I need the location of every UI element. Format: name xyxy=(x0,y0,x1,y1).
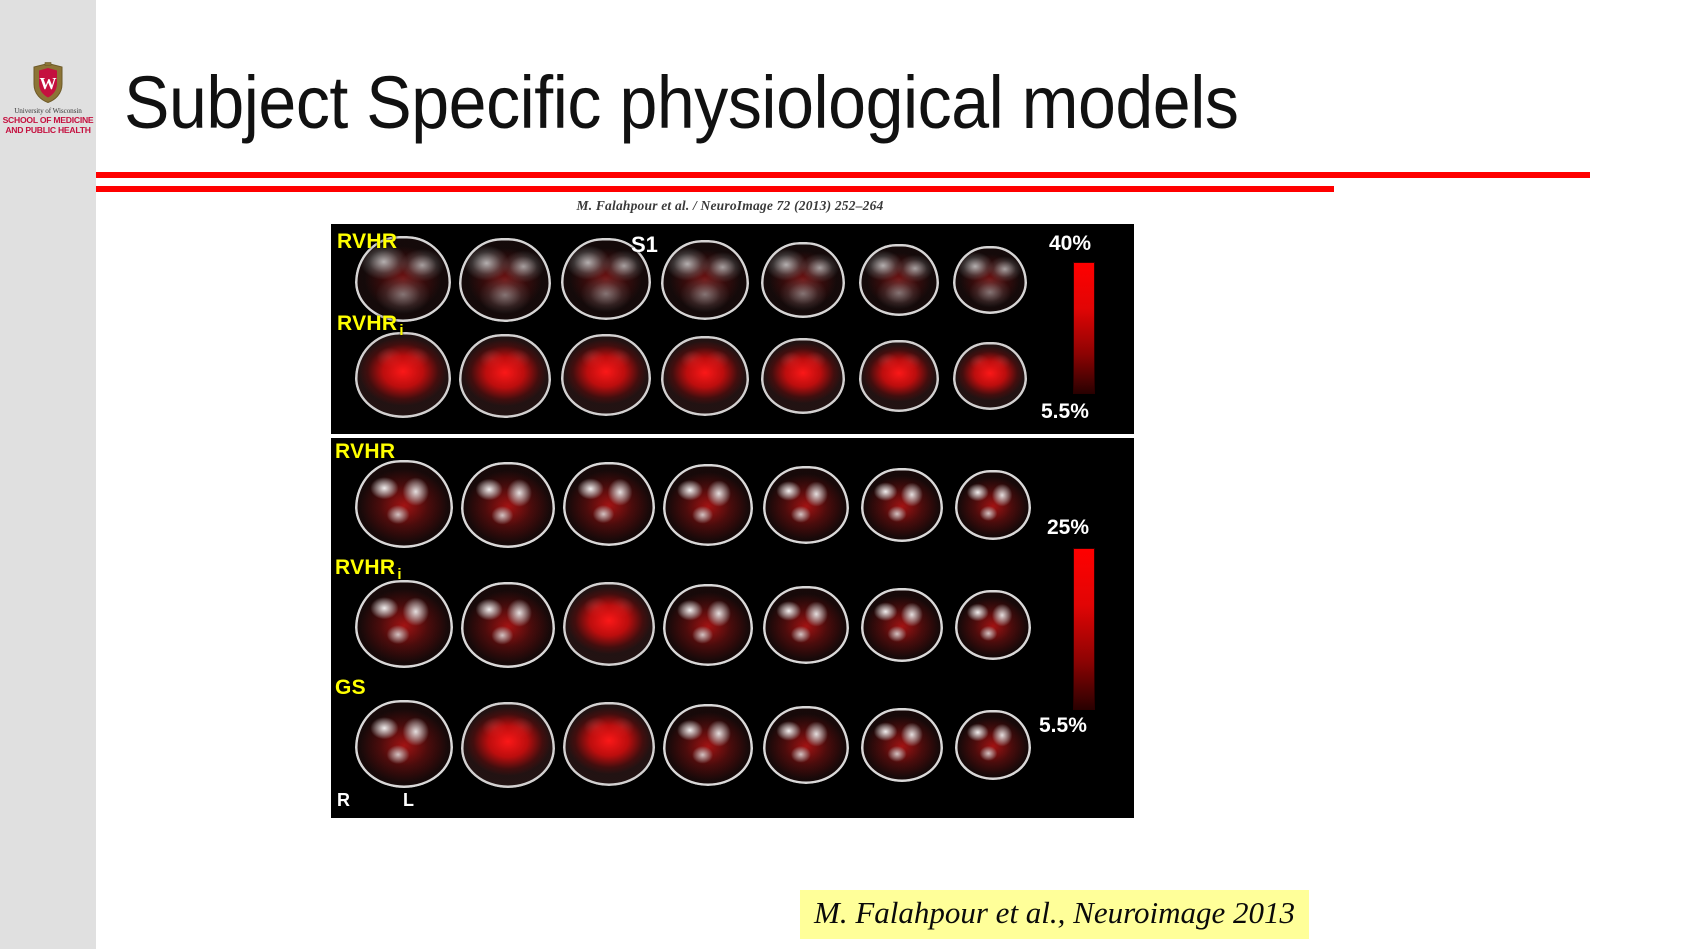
brain-slice xyxy=(661,336,749,416)
colorbar-top-min-label: 5.5% xyxy=(1041,400,1089,424)
logo-school-line2: AND PUBLIC HEALTH xyxy=(2,125,94,135)
brain-slice xyxy=(955,590,1031,660)
citation-highlight: M. Falahpour et al., Neuroimage 2013 xyxy=(800,890,1309,939)
logo-school-line1: SCHOOL OF MEDICINE xyxy=(2,115,94,125)
brain-slice xyxy=(861,588,943,662)
row-label-text: RVHR xyxy=(337,312,397,335)
row-label-gs: GS xyxy=(335,676,366,700)
row-label-rvhr-bottom: RVHR xyxy=(335,440,395,464)
subject-label: S1 xyxy=(631,232,658,258)
uw-crest-icon: W xyxy=(31,62,65,104)
brain-slice xyxy=(563,582,655,666)
colorbar-bottom-min-label: 5.5% xyxy=(1039,714,1087,738)
brain-slice xyxy=(663,584,753,666)
brain-slice xyxy=(355,460,453,548)
orientation-label-right: R xyxy=(337,790,350,811)
svg-text:W: W xyxy=(40,74,57,93)
row-label-text: GS xyxy=(335,676,366,699)
row-label-text: RVHR xyxy=(337,230,397,253)
row-label-rvhr-top: RVHR xyxy=(337,230,397,254)
title-divider-bottom xyxy=(96,186,1334,192)
row-label-rvhri-bottom: RVHRi xyxy=(335,556,402,583)
brain-slice xyxy=(663,704,753,786)
figure-container: M. Falahpour et al. / NeuroImage 72 (201… xyxy=(325,198,1135,838)
colorbar-bottom xyxy=(1073,548,1095,710)
colorbar-top xyxy=(1073,262,1095,394)
brain-slice xyxy=(953,342,1027,410)
row-label-subscript: i xyxy=(397,566,401,583)
brain-slice xyxy=(761,338,845,414)
slide-canvas: W University of Wisconsin SCHOOL OF MEDI… xyxy=(0,0,1687,949)
brain-slice xyxy=(763,706,849,784)
brain-slice xyxy=(561,334,651,416)
brain-slice xyxy=(763,586,849,664)
brain-montage-panel-top: RVHR RVHRi S1 40% 5.5% xyxy=(331,224,1134,434)
sidebar-band: W University of Wisconsin SCHOOL OF MEDI… xyxy=(0,0,96,949)
logo-university-name: University of Wisconsin xyxy=(2,107,94,115)
brain-slice xyxy=(355,700,453,788)
row-label-text: RVHR xyxy=(335,556,395,579)
orientation-label-left: L xyxy=(403,790,414,811)
brain-slice xyxy=(459,334,551,418)
brain-slice xyxy=(461,462,555,548)
colorbar-top-max-label: 40% xyxy=(1049,232,1091,256)
brain-slice xyxy=(663,464,753,546)
institution-logo: W University of Wisconsin SCHOOL OF MEDI… xyxy=(2,62,94,135)
brain-slice xyxy=(953,246,1027,314)
brain-slice xyxy=(859,340,939,412)
brain-montage-panel-bottom: RVHR RVHRi GS R L 25% 5.5% xyxy=(331,438,1134,818)
brain-slice xyxy=(955,470,1031,540)
brain-slice xyxy=(563,702,655,786)
brain-slice xyxy=(563,462,655,546)
brain-slice xyxy=(461,702,555,788)
brain-slice xyxy=(355,332,451,418)
row-label-text: RVHR xyxy=(335,440,395,463)
brain-slice xyxy=(763,466,849,544)
brain-slice xyxy=(459,238,551,322)
row-label-subscript: i xyxy=(399,322,403,339)
journal-reference: M. Falahpour et al. / NeuroImage 72 (201… xyxy=(325,198,1135,214)
brain-slice xyxy=(955,710,1031,780)
brain-slice xyxy=(661,240,749,320)
brain-slice xyxy=(861,468,943,542)
slide-title: Subject Specific physiological models xyxy=(124,55,1412,151)
brain-slice xyxy=(761,242,845,318)
brain-slice xyxy=(355,580,453,668)
title-divider-top xyxy=(96,172,1590,178)
brain-slice xyxy=(859,244,939,316)
colorbar-bottom-max-label: 25% xyxy=(1047,516,1089,540)
row-label-rvhri-top: RVHRi xyxy=(337,312,404,339)
brain-slice xyxy=(461,582,555,668)
brain-slice xyxy=(861,708,943,782)
